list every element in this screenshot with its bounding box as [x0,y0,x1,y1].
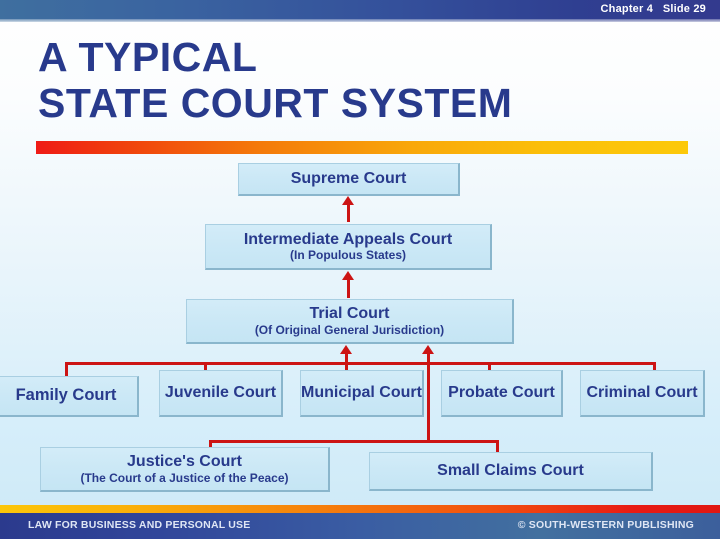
node-family-court[interactable]: Family Court [0,376,139,417]
court-system-diagram: Supreme Court Intermediate Appeals Court… [0,0,720,539]
connector-spine-to-lower-bus [427,362,430,442]
node-justices-court[interactable]: Justice's Court (The Court of a Justice … [40,447,330,492]
footer-gradient-rule [0,505,720,513]
connector-bus-riser-left [345,353,348,365]
node-probate-court[interactable]: Probate Court [441,370,563,417]
node-small-claims-court[interactable]: Small Claims Court [369,452,653,491]
node-criminal-court[interactable]: Criminal Court [580,370,705,417]
node-intermediate-appeals-court-sublabel: (In Populous States) [290,249,406,262]
connector-bus-lower-courts [209,440,499,443]
node-supreme-court[interactable]: Supreme Court [238,163,460,196]
node-municipal-court-label: Municipal Court [301,384,422,402]
node-juvenile-court[interactable]: Juvenile Court [159,370,283,417]
connector-bus-specialty-courts [65,362,656,365]
node-trial-court-label: Trial Court [309,305,389,322]
footer-copyright: © SOUTH-WESTERN PUBLISHING [518,519,694,531]
node-intermediate-appeals-court[interactable]: Intermediate Appeals Court (In Populous … [205,224,492,270]
node-small-claims-court-label: Small Claims Court [437,462,584,479]
node-justices-court-label: Justice's Court [127,453,242,470]
arrow-trial-to-intermediate [342,271,354,280]
slide-canvas: Chapter 4 Slide 29 A TYPICAL STATE COURT… [0,0,720,539]
node-juvenile-court-label: Juvenile Court [165,384,276,402]
connector-intermediate-to-supreme [347,202,350,222]
arrow-bus-to-trial-left [340,345,352,354]
node-municipal-court[interactable]: Municipal Court [300,370,424,417]
node-family-court-label: Family Court [16,387,117,405]
connector-bus-to-family [65,362,68,376]
node-trial-court[interactable]: Trial Court (Of Original General Jurisdi… [186,299,514,344]
node-trial-court-sublabel: (Of Original General Jurisdiction) [255,324,444,337]
node-probate-court-label: Probate Court [448,384,555,402]
node-criminal-court-label: Criminal Court [586,384,697,402]
node-intermediate-appeals-court-label: Intermediate Appeals Court [244,231,452,248]
node-justices-court-sublabel: (The Court of a Justice of the Peace) [80,472,288,485]
node-supreme-court-label: Supreme Court [291,170,407,187]
arrow-intermediate-to-supreme [342,196,354,205]
footer-book-title: LAW FOR BUSINESS AND PERSONAL USE [28,519,250,531]
arrow-bus-to-trial-right [422,345,434,354]
